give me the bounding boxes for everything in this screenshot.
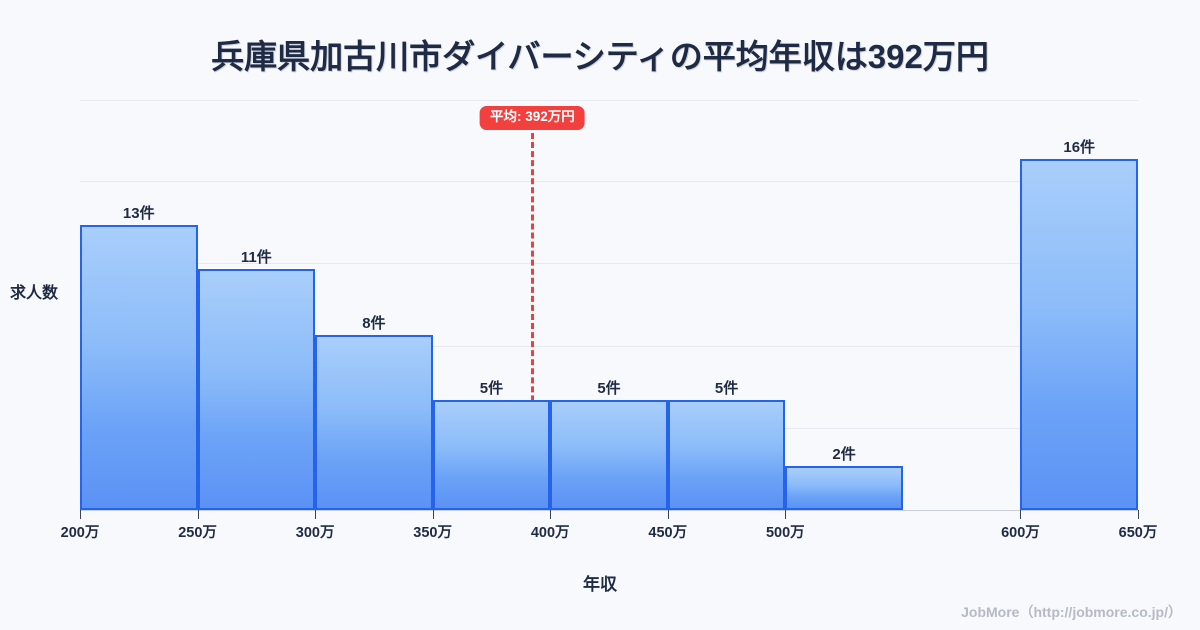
bar[interactable]	[315, 335, 433, 510]
x-axis-tick-label: 650万	[1119, 521, 1158, 542]
x-axis-tick-label: 600万	[1001, 521, 1040, 542]
bar[interactable]	[550, 400, 668, 510]
x-axis-tick-label: 250万	[178, 521, 217, 542]
x-axis-tick-mark	[315, 510, 316, 519]
x-axis-tick-mark	[785, 510, 786, 519]
x-axis-tick-label: 450万	[648, 521, 687, 542]
x-axis-title: 年収	[0, 570, 1200, 595]
bar-value-label: 13件	[80, 202, 198, 223]
x-axis-tick-mark	[1020, 510, 1021, 519]
x-axis-tick-label: 200万	[61, 521, 100, 542]
bar[interactable]	[668, 400, 786, 510]
bar[interactable]	[785, 466, 903, 510]
gridline	[80, 181, 1138, 182]
bar-value-label: 5件	[550, 377, 668, 398]
chart-title: 兵庫県加古川市ダイバーシティの平均年収は392万円	[0, 30, 1200, 78]
bar[interactable]	[433, 400, 551, 510]
x-axis-tick-label: 350万	[413, 521, 452, 542]
bar-value-label: 8件	[315, 312, 433, 333]
x-axis-line	[80, 510, 1138, 511]
x-axis-tick-mark	[668, 510, 669, 519]
x-axis-tick-mark	[198, 510, 199, 519]
average-badge: 平均: 392万円	[480, 106, 585, 130]
x-axis-tick-label: 400万	[531, 521, 570, 542]
bar-value-label: 2件	[785, 443, 903, 464]
bar-value-label: 11件	[198, 246, 316, 267]
footer-credit: JobMore（http://jobmore.co.jp/）	[961, 602, 1182, 622]
x-axis-tick-mark	[433, 510, 434, 519]
bar-value-label: 5件	[668, 377, 786, 398]
x-axis-tick-label: 500万	[766, 521, 805, 542]
bar-value-label: 5件	[433, 377, 551, 398]
y-axis-title: 求人数	[10, 279, 58, 303]
bar[interactable]	[80, 225, 198, 510]
bar-value-label: 16件	[1020, 136, 1138, 157]
bar[interactable]	[198, 269, 316, 510]
x-axis-tick-mark	[1138, 510, 1139, 519]
gridline	[80, 100, 1138, 101]
bar[interactable]	[1020, 159, 1138, 510]
x-axis-tick-mark	[550, 510, 551, 519]
x-axis-tick-label: 300万	[296, 521, 335, 542]
chart-container: 兵庫県加古川市ダイバーシティの平均年収は392万円 求人数 200万250万30…	[0, 0, 1200, 630]
x-axis-tick-mark	[80, 510, 81, 519]
